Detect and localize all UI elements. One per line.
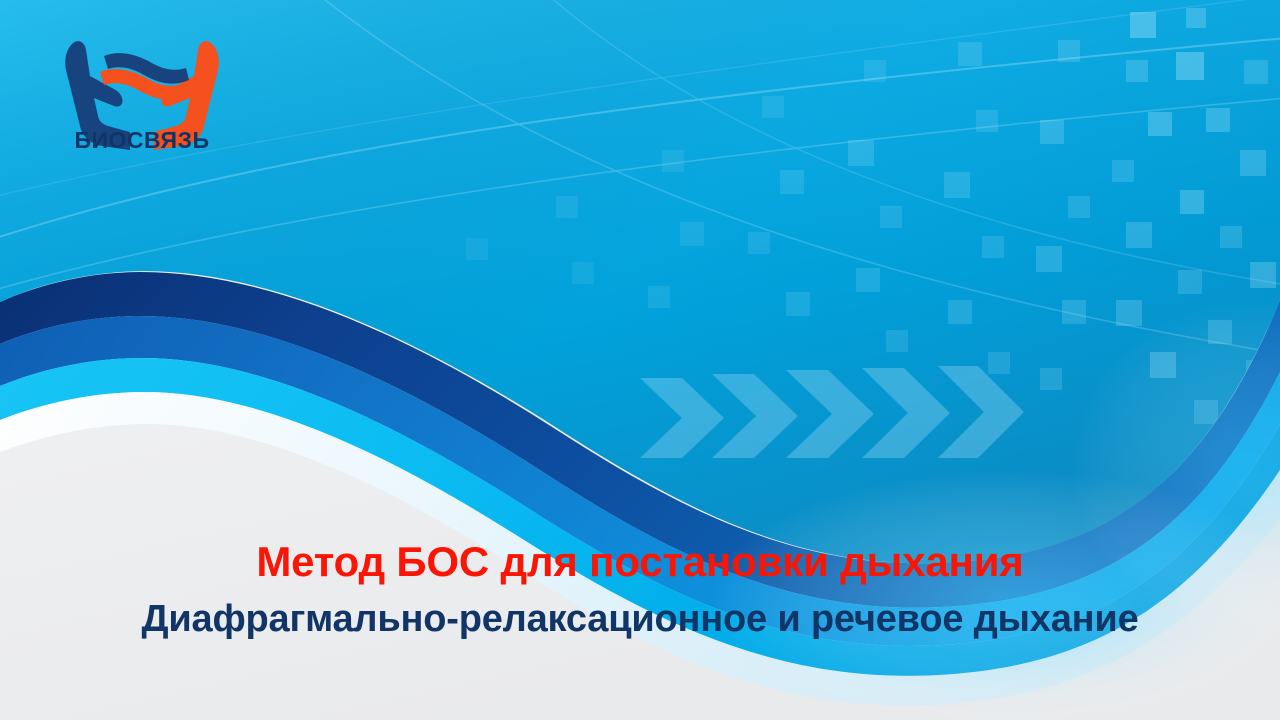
slide-subtitle: Диафрагмально-релаксационное и речевое д… (0, 599, 1280, 641)
slide-canvas: БИОСВЯЗЬ Метод БОС для постановки дыхани… (0, 0, 1280, 720)
logo-wordmark: БИОСВЯЗЬ (74, 127, 209, 153)
cradling-hands-logo: БИОСВЯЗЬ (52, 14, 232, 164)
slide-title: Метод БОС для постановки дыхания (0, 540, 1280, 585)
brand-logo: БИОСВЯЗЬ (52, 14, 232, 164)
caption-block: Метод БОС для постановки дыхания Диафраг… (0, 540, 1280, 641)
